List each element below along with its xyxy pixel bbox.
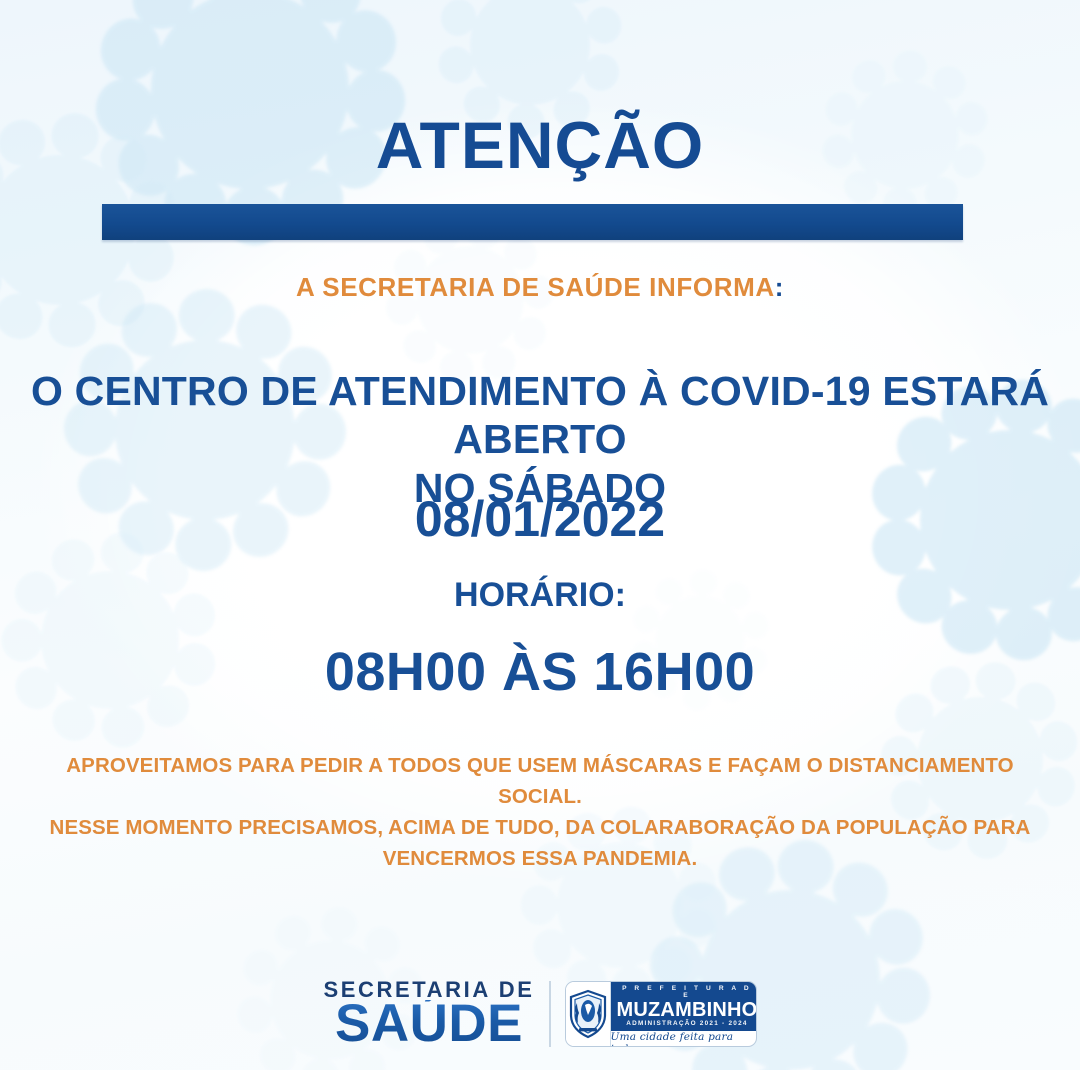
subtitle: A SECRETARIA DE SAÚDE INFORMA: (0, 272, 1080, 303)
city-logo-band: P R E F E I T U R A D E MUZAMBINHO ADMIN… (611, 982, 757, 1031)
city-logo-slogan: Uma cidade feita para todos (611, 1031, 757, 1047)
headline-line-1: O CENTRO DE ATENDIMENTO À COVID-19 ESTAR… (10, 367, 1070, 464)
city-logo-text-block: P R E F E I T U R A D E MUZAMBINHO ADMIN… (611, 982, 757, 1046)
city-logo-prefix: P R E F E I T U R A D E (617, 986, 757, 999)
logo-divider (549, 981, 551, 1047)
schedule-label: HORÁRIO: (0, 576, 1080, 615)
event-date: 08/01/2022 (0, 490, 1080, 548)
city-logo-administration: ADMINISTRAÇÃO 2021 - 2024 (617, 1021, 757, 1027)
advice-line-1: APROVEITAMOS PARA PEDIR A TODOS QUE USEM… (24, 750, 1056, 812)
advice-line-3: VENCERMOS ESSA PANDEMIA. (24, 843, 1056, 874)
advice-line-2: NESSE MOMENTO PRECISAMOS, ACIMA DE TUDO,… (24, 812, 1056, 843)
schedule-value: 08H00 ÀS 16H00 (0, 641, 1080, 703)
health-department-logo: SECRETARIA DE SAÚDE (323, 980, 534, 1049)
city-hall-logo: P R E F E I T U R A D E MUZAMBINHO ADMIN… (565, 981, 757, 1047)
health-logo-line-2: SAÚDE (335, 1000, 523, 1049)
page-title: ATENÇÃO (0, 112, 1080, 178)
subtitle-colon: : (775, 272, 784, 302)
subtitle-text: A SECRETARIA DE SAÚDE INFORMA (296, 272, 775, 302)
coat-of-arms-icon (566, 982, 611, 1046)
footer-logos: SECRETARIA DE SAÚDE (0, 966, 1080, 1062)
health-advice-text: APROVEITAMOS PARA PEDIR A TODOS QUE USEM… (24, 750, 1056, 875)
coronavirus-particle (0, 525, 225, 755)
poster-canvas: ATENÇÃO A SECRETARIA DE SAÚDE INFORMA: O… (0, 0, 1080, 1070)
city-logo-name: MUZAMBINHO (617, 1000, 757, 1020)
title-underline-bar (102, 204, 963, 240)
